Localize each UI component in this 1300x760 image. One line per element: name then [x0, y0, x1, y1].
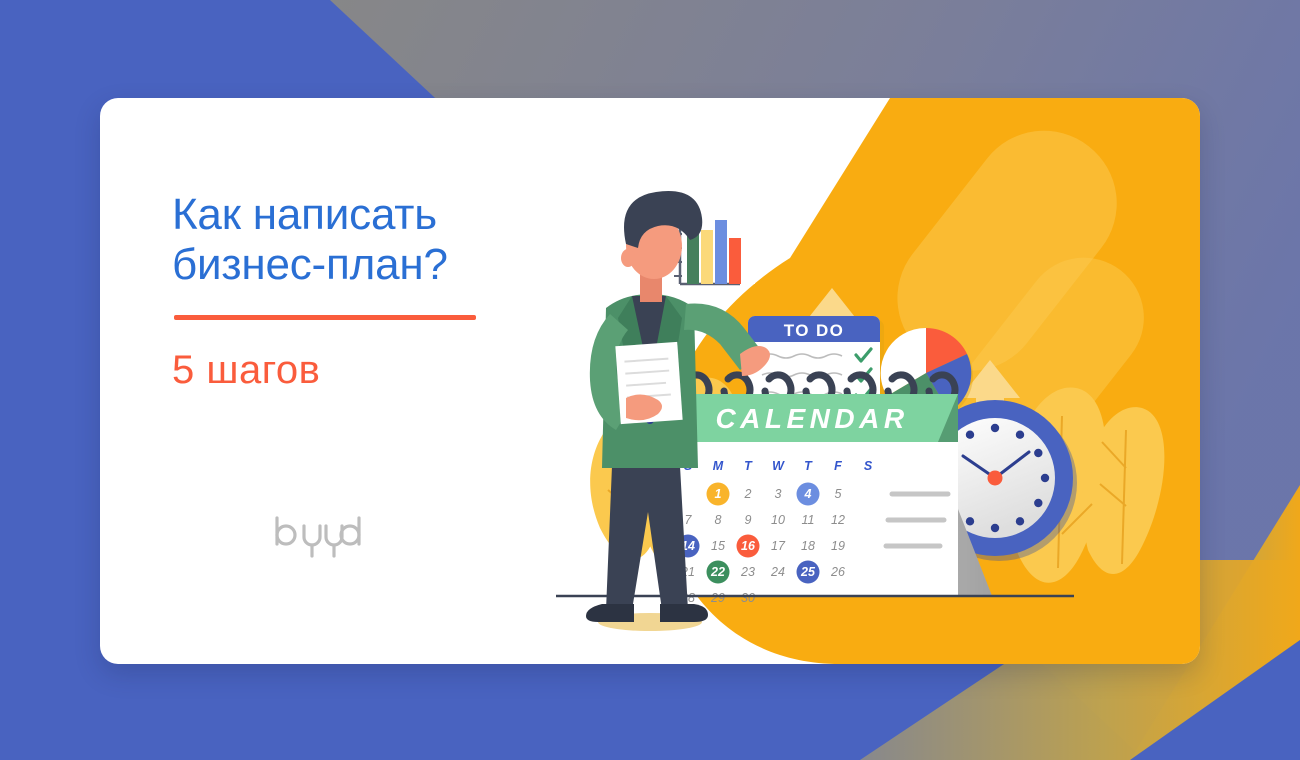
- svg-text:5: 5: [835, 487, 842, 501]
- calendar-title: CALENDAR: [715, 403, 908, 434]
- logo-mark: [272, 516, 364, 558]
- svg-text:22: 22: [710, 565, 725, 579]
- svg-text:26: 26: [830, 565, 845, 579]
- svg-text:18: 18: [801, 539, 815, 553]
- illustration-svg: TO DO: [540, 98, 1200, 664]
- svg-text:9: 9: [745, 513, 752, 527]
- svg-text:F: F: [834, 459, 842, 473]
- svg-text:S: S: [864, 459, 873, 473]
- svg-text:25: 25: [800, 565, 816, 579]
- byyd-logo[interactable]: [272, 516, 364, 558]
- svg-text:30: 30: [741, 591, 755, 605]
- person-shoe-left: [586, 604, 634, 622]
- subtitle: 5 шагов: [172, 348, 592, 393]
- svg-text:16: 16: [741, 539, 756, 553]
- bar-3: [715, 220, 727, 284]
- todo-title: TO DO: [784, 321, 845, 340]
- bar-5: [743, 250, 755, 284]
- svg-text:23: 23: [740, 565, 755, 579]
- calendar: CALENDAR SMT WTF S: [668, 375, 958, 605]
- person-ear: [621, 249, 635, 267]
- svg-text:2: 2: [744, 487, 752, 501]
- svg-text:10: 10: [771, 513, 785, 527]
- svg-text:4: 4: [804, 487, 812, 501]
- page-title: Как написать бизнес-план?: [172, 190, 592, 289]
- bar-2: [701, 230, 713, 284]
- bar-4: [729, 238, 741, 284]
- illustration-container: TO DO: [540, 98, 1200, 664]
- svg-text:M: M: [713, 459, 724, 473]
- svg-text:11: 11: [802, 513, 815, 527]
- clock-center-dot: [988, 471, 1003, 486]
- svg-text:24: 24: [770, 565, 785, 579]
- svg-text:29: 29: [710, 591, 725, 605]
- svg-text:17: 17: [771, 539, 786, 553]
- svg-text:19: 19: [831, 539, 845, 553]
- svg-text:15: 15: [711, 539, 725, 553]
- svg-text:7: 7: [685, 513, 693, 527]
- svg-text:8: 8: [715, 513, 722, 527]
- text-block: Как написать бизнес-план? 5 шагов: [172, 190, 592, 393]
- svg-text:12: 12: [831, 513, 845, 527]
- person-shoe-right: [660, 604, 708, 622]
- title-divider: [174, 315, 476, 320]
- svg-text:W: W: [772, 459, 785, 473]
- content-card: TO DO: [100, 98, 1200, 664]
- svg-text:1: 1: [715, 487, 722, 501]
- svg-text:3: 3: [775, 487, 782, 501]
